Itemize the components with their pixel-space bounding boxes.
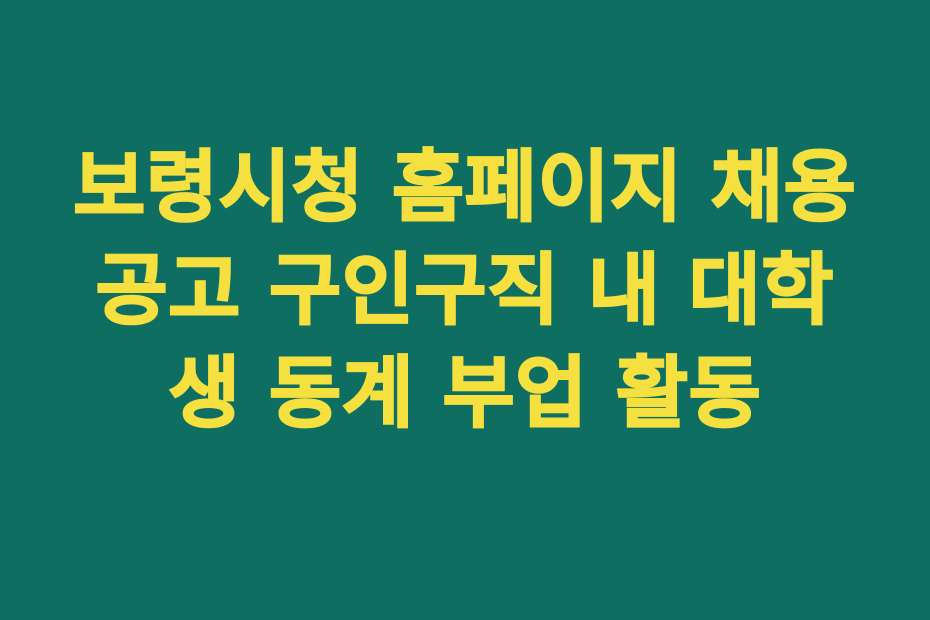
banner-canvas: 보령시청 홈페이지 채용 공고 구인구직 내 대학 생 동계 부업 활동 [0, 0, 930, 620]
headline-line-3: 생 동계 부업 활동 [0, 343, 930, 446]
headline-text-block: 보령시청 홈페이지 채용 공고 구인구직 내 대학 생 동계 부업 활동 [0, 137, 930, 446]
headline-line-1: 보령시청 홈페이지 채용 [0, 137, 930, 240]
headline-line-2: 공고 구인구직 내 대학 [0, 240, 930, 343]
